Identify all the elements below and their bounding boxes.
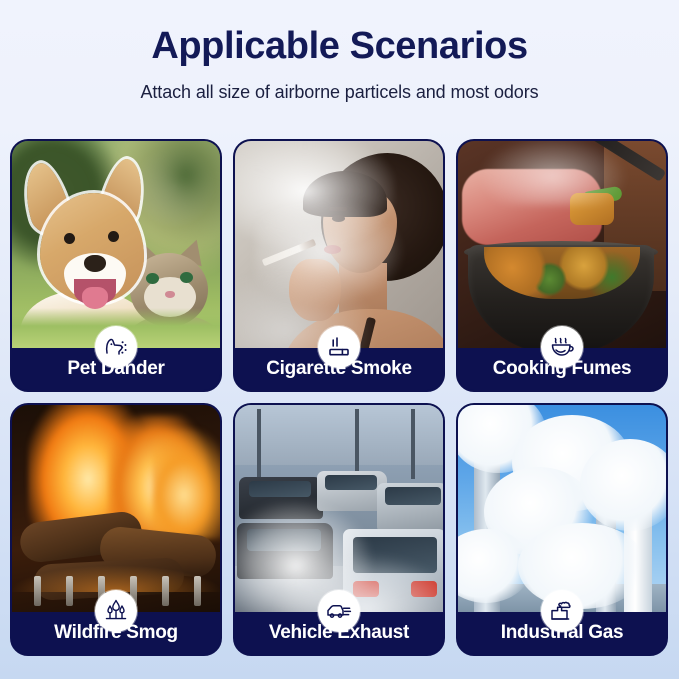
scenario-card-grid: Pet Dander [10,139,669,656]
cooking-fumes-photo [458,141,666,348]
wildfire-smog-photo [12,405,220,612]
scenario-card-wildfire-smog[interactable]: Wildfire Smog [10,403,222,656]
vehicle-exhaust-photo [235,405,443,612]
pet-dander-photo [12,141,220,348]
page-subtitle: Attach all size of airborne particels an… [0,82,679,103]
car-exhaust-icon [318,590,360,632]
scenario-card-cigarette-smoke[interactable]: Cigarette Smoke [233,139,445,392]
applicable-scenarios-page: Applicable Scenarios Attach all size of … [0,0,679,679]
cooking-pot-steam-icon [541,326,583,368]
wildfire-trees-flame-icon [95,590,137,632]
page-header: Applicable Scenarios Attach all size of … [0,0,679,103]
cigarette-smoke-photo [235,141,443,348]
scenario-card-pet-dander[interactable]: Pet Dander [10,139,222,392]
cigarette-smoke-icon [318,326,360,368]
page-title: Applicable Scenarios [0,26,679,68]
scenario-card-cooking-fumes[interactable]: Cooking Fumes [456,139,668,392]
factory-smoke-icon [541,590,583,632]
scenario-card-vehicle-exhaust[interactable]: Vehicle Exhaust [233,403,445,656]
dog-head-dander-icon [95,326,137,368]
scenario-card-industrial-gas[interactable]: Industrial Gas [456,403,668,656]
industrial-gas-photo [458,405,666,612]
